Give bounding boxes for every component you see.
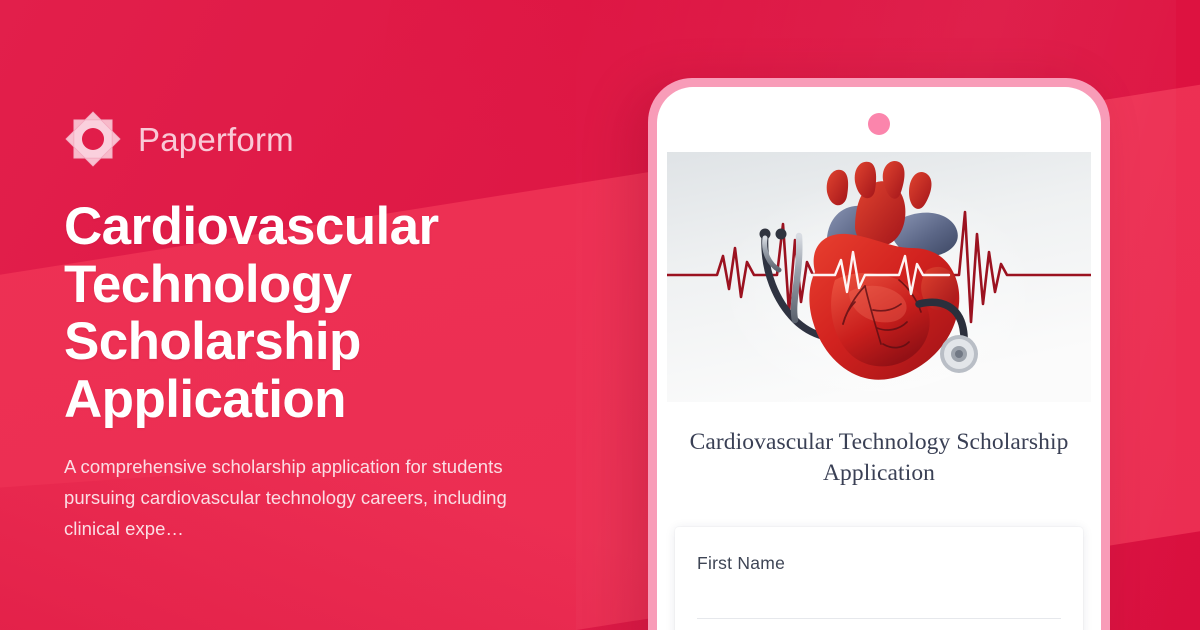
hero-panel: Paperform Cardiovascular Technology Scho… bbox=[64, 108, 584, 545]
brand-wordmark: Paperform bbox=[138, 123, 294, 156]
paperform-star-logo-icon bbox=[64, 110, 122, 168]
front-camera-dot-icon bbox=[868, 113, 890, 135]
page-title: Cardiovascular Technology Scholarship Ap… bbox=[64, 198, 484, 428]
first-name-input[interactable] bbox=[697, 618, 1061, 619]
phone-screen: Cardiovascular Technology Scholarship Ap… bbox=[657, 87, 1101, 630]
phone-mockup: Cardiovascular Technology Scholarship Ap… bbox=[648, 78, 1110, 630]
first-name-label: First Name bbox=[697, 553, 1061, 574]
heart-ecg-stethoscope-illustration-icon bbox=[667, 152, 1091, 402]
form-title: Cardiovascular Technology Scholarship Ap… bbox=[679, 427, 1079, 490]
form-field-card: First Name bbox=[675, 527, 1083, 630]
brand-lockup: Paperform bbox=[64, 108, 584, 170]
page-description: A comprehensive scholarship application … bbox=[64, 452, 524, 545]
